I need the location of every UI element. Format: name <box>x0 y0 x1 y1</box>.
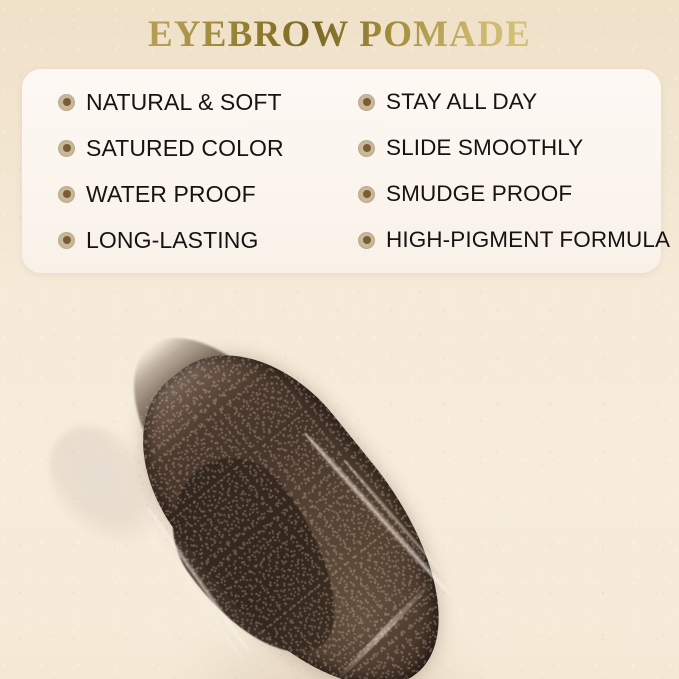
feature-label: LONG-LASTING <box>86 227 258 254</box>
page-title: EYEBROW POMADE <box>0 12 679 58</box>
bullet-dot-icon <box>58 140 75 157</box>
feature-item-water-proof: WATER PROOF <box>58 181 358 208</box>
bullet-dot-icon <box>358 140 375 157</box>
feature-label: NATURAL & SOFT <box>86 89 282 116</box>
feature-label: STAY ALL DAY <box>386 89 537 115</box>
bullet-dot-icon <box>58 186 75 203</box>
feature-label: WATER PROOF <box>86 181 256 208</box>
feature-item-stay-all-day: STAY ALL DAY <box>358 89 670 115</box>
bullet-dot-icon <box>58 232 75 249</box>
bullet-dot-icon <box>58 94 75 111</box>
bullet-dot-icon <box>358 94 375 111</box>
feature-item-satured-color: SATURED COLOR <box>58 135 358 162</box>
product-feature-graphic: EYEBROW POMADE NATURAL & SOFT STAY ALL D… <box>0 0 679 679</box>
product-swatch-area <box>0 278 679 679</box>
feature-item-slide-smoothly: SLIDE SMOOTHLY <box>358 135 670 161</box>
feature-label: SATURED COLOR <box>86 135 284 162</box>
feature-item-natural-soft: NATURAL & SOFT <box>58 89 358 116</box>
feature-label: SLIDE SMOOTHLY <box>386 135 583 161</box>
